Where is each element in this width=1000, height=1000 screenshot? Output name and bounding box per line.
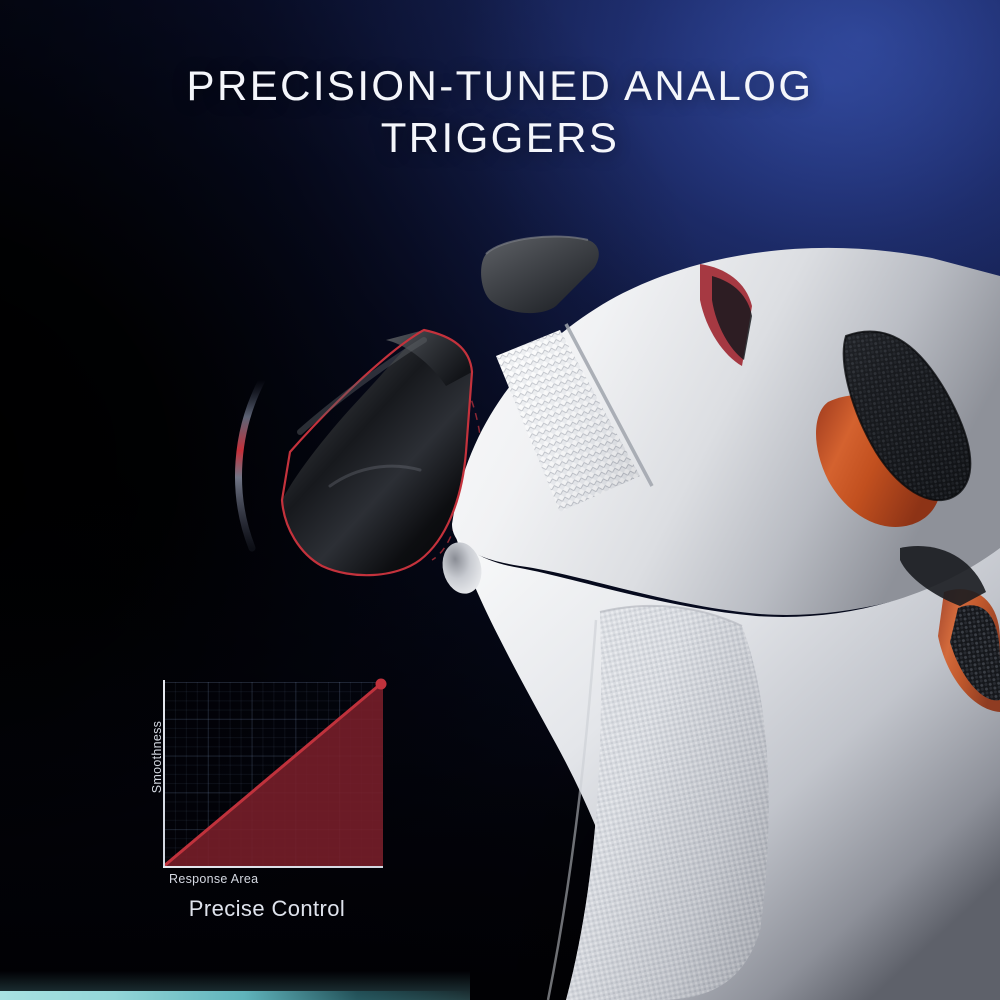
chart-marker-layer <box>164 682 383 866</box>
headline-line-2: TRIGGERS <box>0 112 1000 164</box>
chart-caption: Precise Control <box>136 896 398 922</box>
shoulder-bumper <box>481 236 599 313</box>
headline: PRECISION-TUNED ANALOG TRIGGERS <box>0 60 1000 164</box>
chart-endpoint-marker <box>376 679 387 690</box>
chart-x-axis-label: Response Area <box>169 872 258 886</box>
chart-y-axis-label: Smoothness <box>150 687 164 827</box>
chart-plot-area <box>164 682 383 866</box>
product-feature-banner: PRECISION-TUNED ANALOG TRIGGERS Smoothne… <box>0 0 1000 1000</box>
chart-x-axis <box>163 866 383 868</box>
response-chart: Smoothness Response Area Precise Control <box>136 672 406 922</box>
headline-line-1: PRECISION-TUNED ANALOG <box>0 60 1000 112</box>
teal-accent-bar <box>0 991 470 1000</box>
trigger-travel-arc <box>239 380 262 548</box>
